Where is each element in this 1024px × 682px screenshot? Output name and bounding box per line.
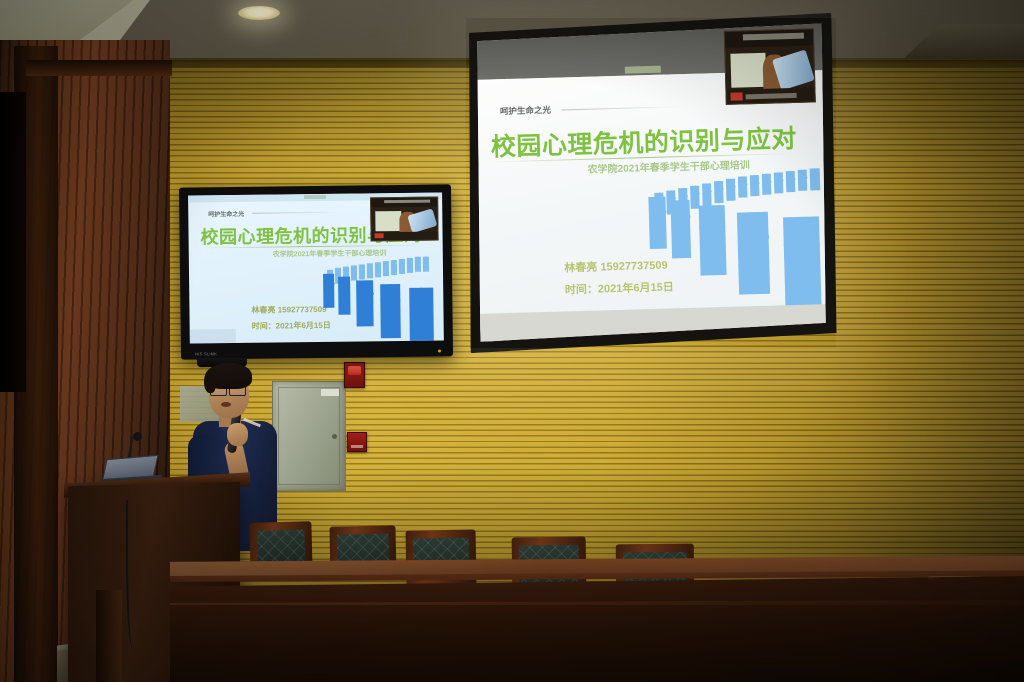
slide-canvas-large: 呵护生命之光 校园心理危机的识别与应对 农学院2021年春季学生干部心理培训 林… [473,70,829,314]
presenter-hair-side [204,369,216,393]
paper-doll-people-graphic-tv [309,254,442,342]
doll-figure-front [699,205,727,276]
video-thumbnail-record-icon[interactable] [730,92,743,101]
doll-figure [786,171,796,192]
video-thumbnail-title-text-tv [384,199,430,203]
doll-figure [798,170,808,191]
tv-screen-surface: 呵护生命之光 校园心理危机的识别与应对 农学院2021年春季学生干部心理培训 林… [188,192,444,343]
projection-screen: 呵护生命之光 校园心理危机的识别与应对 农学院2021年春季学生干部心理培训 林… [461,13,840,353]
doll-figure [750,175,760,196]
tv-brand-label: HIS SLiMK [195,351,217,356]
doll-figure-front [737,212,770,295]
video-call-thumbnail[interactable] [724,28,816,104]
presenter-mouth [221,402,231,407]
conference-table-front [170,576,1024,682]
paper-doll-people-graphic [626,166,831,312]
video-call-thumbnail-tv[interactable] [370,197,439,242]
slide-logo-text-tv: 呵护生命之光 [208,209,244,218]
doll-figure [810,168,821,190]
presenter-hand [227,423,248,446]
slide-logo-rule [562,106,682,110]
tv-power-led-icon [438,349,441,352]
lecture-hall-photo: 呵护生命之光 校园心理危机的识别与应对 农学院2021年春季学生干部心理培训 林… [0,0,1024,682]
wall-mounted-tv: 呵护生命之光 校园心理危机的识别与应对 农学院2021年春季学生干部心理培训 林… [179,184,453,359]
slide-large: 呵护生命之光 校园心理危机的识别与应对 农学院2021年春季学生干部心理培训 林… [473,70,829,314]
panel-lock-icon [332,434,337,439]
video-thumbnail-screen [731,52,767,88]
alarm-lens [348,366,360,374]
doll-figure [762,174,772,195]
doll-figure [726,179,736,201]
doll-figure-front-tv [338,277,350,315]
alarm-label [351,445,364,449]
ceiling-light-icon [238,6,280,20]
doll-figure-front-tv [409,288,434,344]
doll-figure [702,183,712,205]
wood-panel-top-trim [26,60,172,76]
lectern-leg [96,590,122,682]
doll-figure-front-tv [323,274,334,308]
toolbar-indicator [625,66,661,74]
dark-doorway [0,92,26,392]
tv-slide-corner-note [190,329,236,344]
fire-alarm-strobe-icon [344,362,365,388]
video-thumbnail-screen-tv [375,211,402,231]
slide-logo-rule-tv [252,212,342,214]
doll-figure-front [783,216,822,309]
doll-figure-front-tv [380,284,401,338]
fire-alarm-pull-station-icon[interactable] [347,432,367,452]
gooseneck-microphone-head [133,432,142,441]
doll-figure [738,176,748,197]
doll-figure-front [648,197,666,249]
slide-logo-text: 呵护生命之光 [500,104,551,117]
microphone-cable [126,500,138,650]
panel-label-tag [321,389,339,396]
doll-figure [714,181,724,203]
doll-figure-front-tv [356,280,374,326]
doll-figure [774,172,784,193]
doll-figure-front [670,200,691,259]
video-thumbnail-record-icon-tv[interactable] [374,233,383,238]
projection-screen-surface: 呵护生命之光 校园心理危机的识别与应对 农学院2021年春季学生干部心理培训 林… [472,22,831,342]
